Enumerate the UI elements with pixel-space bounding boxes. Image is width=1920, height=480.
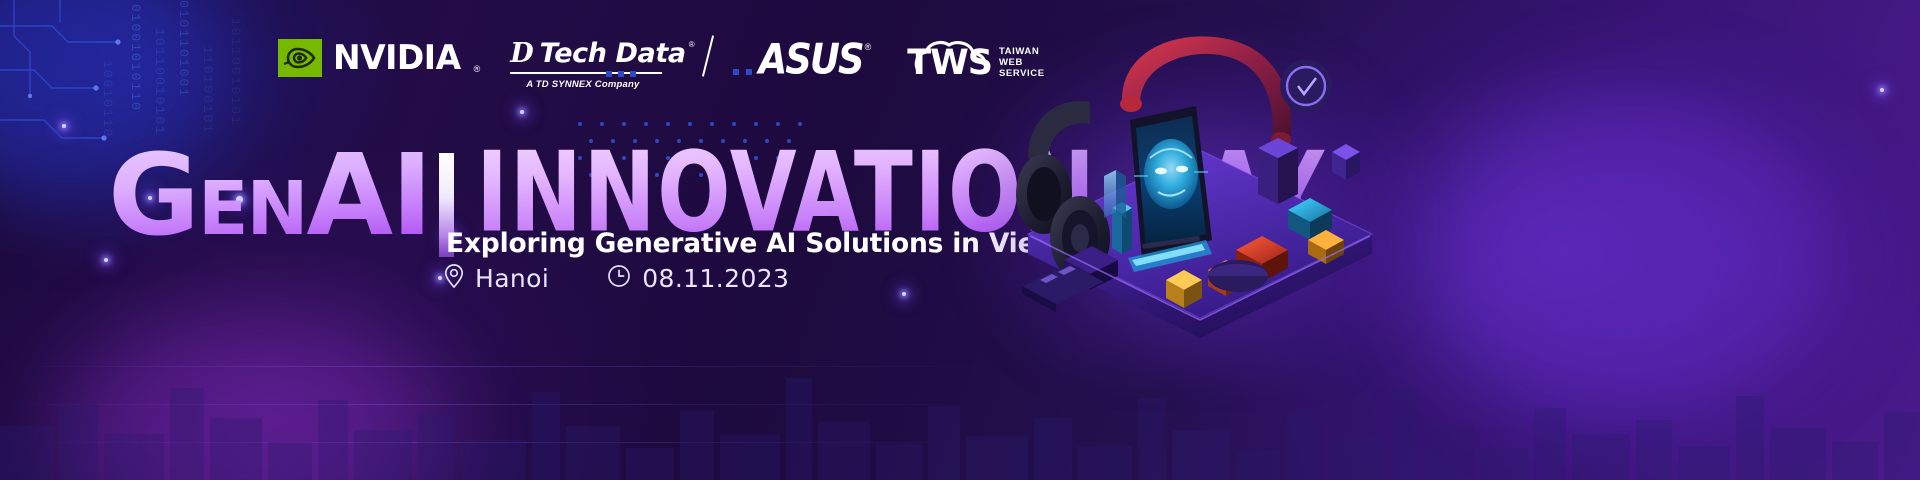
event-location: Hanoi — [444, 263, 549, 294]
partner-logo-row: NVIDIA ® D Tech Data ® A TD SYNNEX Compa… — [278, 38, 1045, 90]
binary-code-1: 01001010110 — [128, 4, 143, 112]
glow-blob-right — [1420, 90, 1840, 420]
nvidia-wordmark: NVIDIA — [333, 38, 461, 78]
grid-line-1 — [0, 366, 1000, 367]
asus-wordmark: ASUS — [759, 35, 863, 83]
headline-en-smallcaps: EN — [198, 166, 306, 252]
spark-7 — [62, 124, 66, 128]
spark-6 — [520, 110, 524, 114]
nvidia-eye-icon — [278, 39, 322, 77]
logo-tech-data: D Tech Data ® A TD SYNNEX Company — [510, 38, 694, 90]
map-pin-icon — [444, 263, 464, 294]
event-location-label: Hanoi — [475, 264, 549, 293]
clock-glyph — [607, 264, 631, 288]
asus-dot-accents — [733, 69, 752, 75]
ai-tech-illustration — [1000, 8, 1400, 380]
event-date: 08.11.2023 — [607, 264, 789, 293]
asus-registered-mark: ® — [865, 42, 872, 52]
tablet-device — [1130, 106, 1212, 260]
tech-data-monogram: D — [510, 38, 533, 69]
nvidia-eye-glyph — [283, 44, 317, 72]
isometric-tech-scene — [1000, 8, 1400, 380]
logo-nvidia: NVIDIA ® — [278, 38, 480, 78]
binary-code-3: 0101101001 — [176, 0, 191, 98]
binary-code-6: 10110010101 — [228, 18, 243, 126]
grid-line-2 — [0, 404, 1000, 405]
glow-blob-bottom-left — [60, 320, 440, 480]
grid-line-3 — [0, 442, 1000, 443]
tech-data-underline-rule — [510, 72, 662, 74]
tech-data-tagline: A TD SYNNEX Company — [526, 79, 639, 90]
spark-9 — [1880, 88, 1884, 92]
binary-code-4: 110100101 — [200, 46, 215, 134]
binary-code-5: 10010110 — [100, 60, 115, 138]
clock-icon — [607, 264, 631, 293]
binary-code-2: 10110010101 — [152, 28, 167, 136]
event-date-label: 08.11.2023 — [642, 264, 789, 293]
event-banner: 01001010110 10110010101 0101101001 11010… — [0, 0, 1920, 480]
tech-data-lockup: D Tech Data ® — [510, 38, 694, 69]
headline-gen-letter: G — [108, 131, 198, 261]
tech-data-registered-mark: ® — [689, 40, 695, 49]
tech-data-wordmark: Tech Data — [540, 38, 686, 69]
nvidia-registered-mark: ® — [474, 64, 481, 74]
map-pin-glyph — [444, 263, 464, 289]
logo-asus: ASUS ® — [759, 38, 872, 81]
event-meta-row: Hanoi 08.11.2023 — [444, 263, 789, 294]
headline-ai: AI — [306, 131, 430, 261]
headline-genai: GENAI — [108, 144, 431, 261]
tech-data-slash-rule — [702, 35, 714, 76]
tech-data-dot-accents — [606, 71, 636, 77]
spark-8 — [902, 292, 906, 296]
spark-5 — [438, 276, 442, 280]
